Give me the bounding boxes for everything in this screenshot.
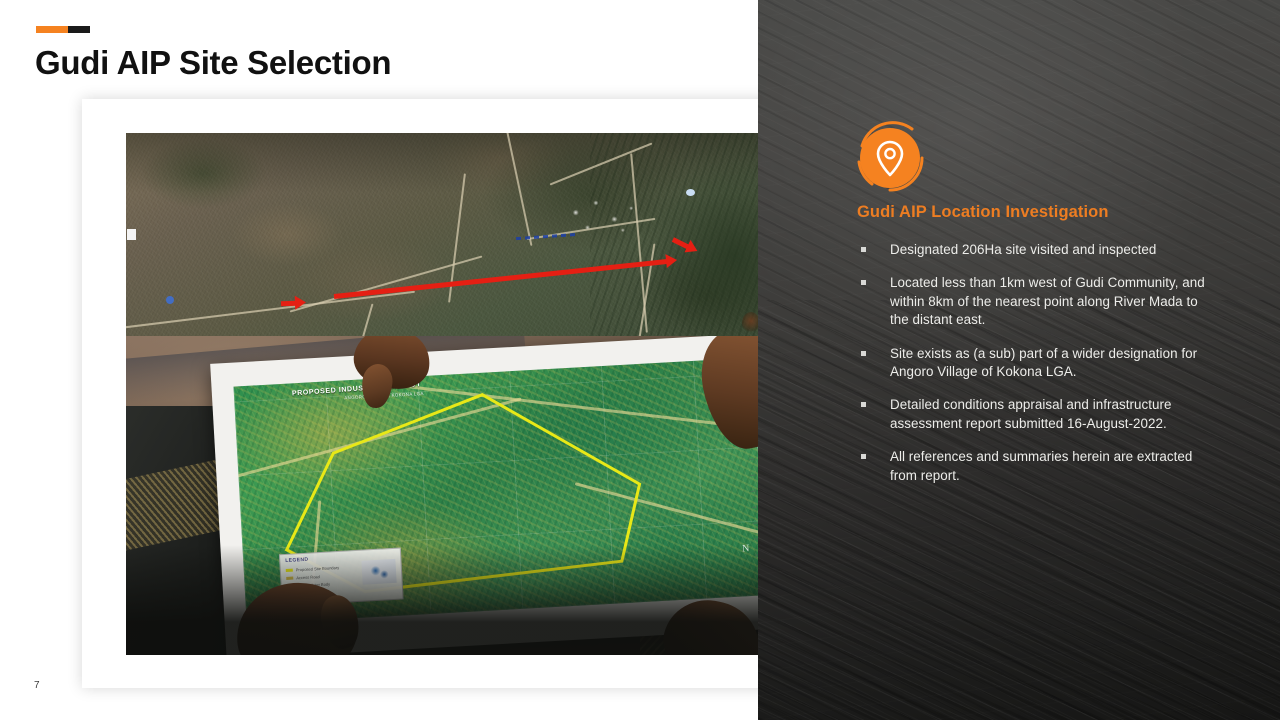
accent-segment-dark [68, 26, 90, 33]
title-accent-bar [36, 26, 90, 33]
handheld-printed-map-photo: PROPOSED INDUSTRIAL LAYOUT ANGORO VILLAG… [126, 336, 770, 655]
list-item-text: All references and summaries herein are … [890, 448, 1209, 485]
list-item: Site exists as (a sub) part of a wider d… [857, 345, 1209, 382]
location-pin-badge [856, 124, 924, 192]
page-number: 7 [34, 680, 40, 692]
list-item-text: Detailed conditions appraisal and infras… [890, 396, 1209, 433]
aerial-satellite-map-photo [126, 133, 770, 336]
photo-bottom-shadow [126, 545, 770, 655]
list-item: Detailed conditions appraisal and infras… [857, 396, 1209, 433]
photo-stack: PROPOSED INDUSTRIAL LAYOUT ANGORO VILLAG… [126, 133, 770, 655]
bullet-marker-icon [861, 351, 866, 356]
accent-segment-orange [36, 26, 68, 33]
bullet-marker-icon [861, 454, 866, 459]
list-item-text: Located less than 1km west of Gudi Commu… [890, 274, 1209, 329]
content-card: PROPOSED INDUSTRIAL LAYOUT ANGORO VILLAG… [82, 99, 818, 688]
satellite-marker-blue [166, 296, 174, 304]
list-item-text: Site exists as (a sub) part of a wider d… [890, 345, 1209, 382]
bullet-marker-icon [861, 280, 866, 285]
bullet-marker-icon [861, 402, 866, 407]
bullet-marker-icon [861, 247, 866, 252]
location-pin-icon [860, 128, 920, 188]
list-item-text: Designated 206Ha site visited and inspec… [890, 241, 1209, 259]
panel-bullet-list: Designated 206Ha site visited and inspec… [857, 241, 1209, 500]
slide: Gudi AIP Site Selection 7 [0, 0, 1280, 720]
list-item: Designated 206Ha site visited and inspec… [857, 241, 1209, 259]
red-direction-arrow [281, 301, 297, 307]
satellite-marker-white [127, 229, 136, 240]
page-title: Gudi AIP Site Selection [35, 42, 391, 84]
panel-heading: Gudi AIP Location Investigation [857, 201, 1109, 223]
list-item: Located less than 1km west of Gudi Commu… [857, 274, 1209, 329]
list-item: All references and summaries herein are … [857, 448, 1209, 485]
satellite-marker-blue [686, 189, 695, 196]
